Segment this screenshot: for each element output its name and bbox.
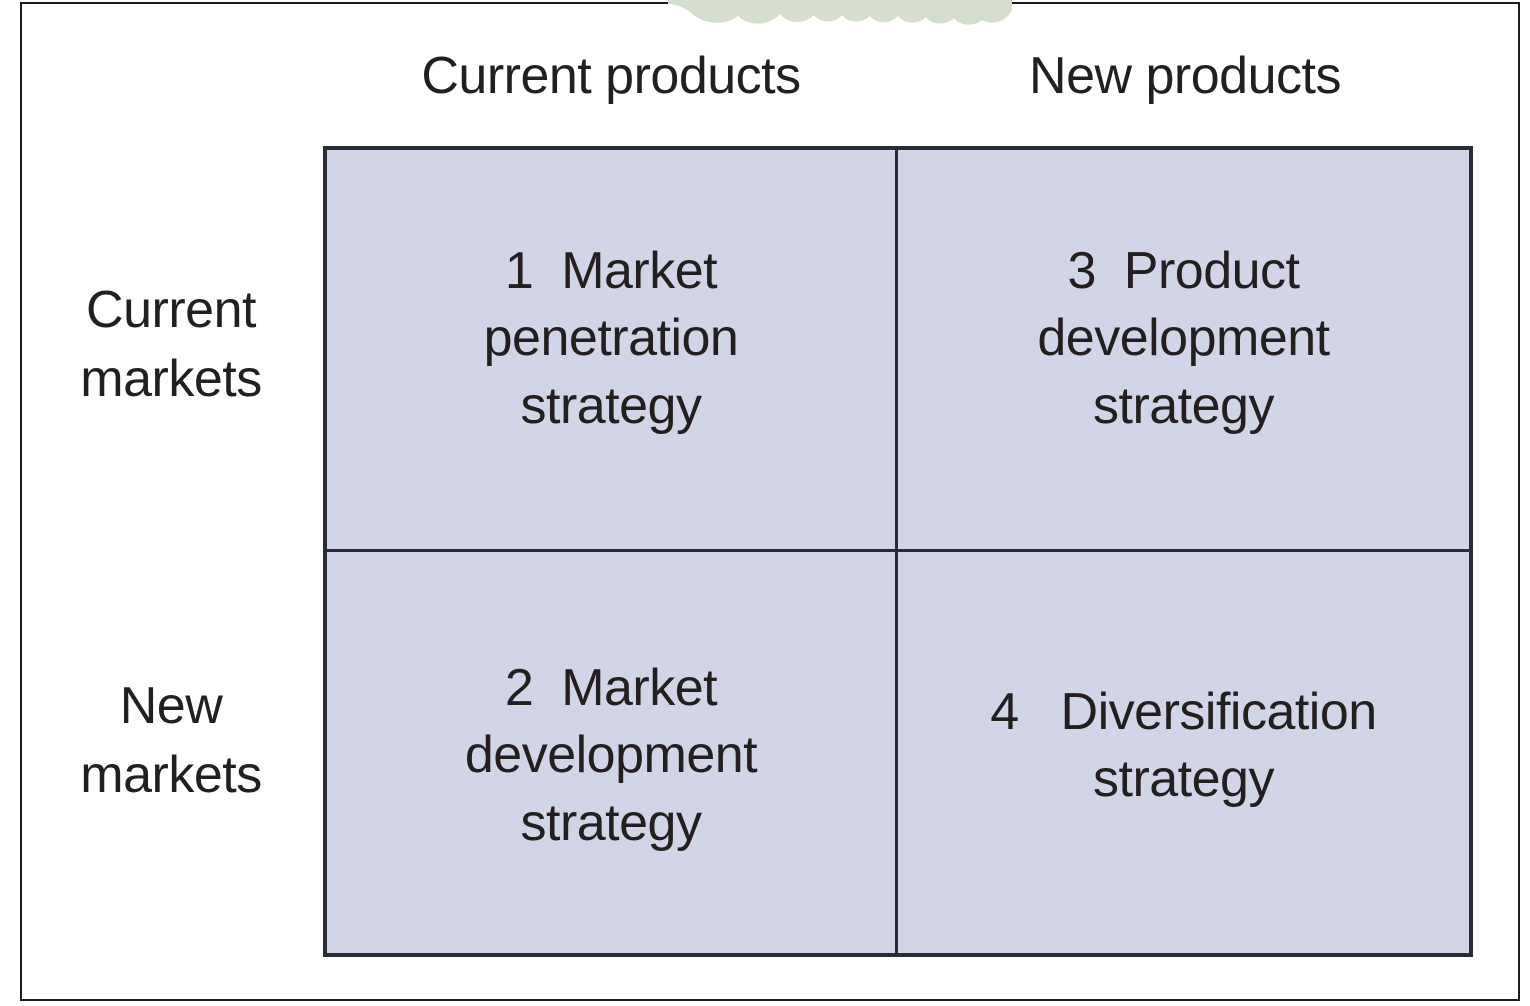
cell-1-line-2: penetration	[349, 305, 873, 373]
cell-2-line-2: development	[349, 722, 873, 790]
cell-3-line-3: strategy	[920, 373, 1447, 441]
ansoff-matrix-figure: Current products New products Current ma…	[0, 0, 1530, 1006]
cell-3-line-2: development	[920, 305, 1447, 373]
matrix-cell-product-development-text: 3 Product development strategy	[920, 238, 1447, 441]
row-header-current-markets: Current markets	[28, 276, 314, 414]
row-header-new-markets: New markets	[28, 672, 314, 810]
matrix-cell-market-development-text: 2 Market development strategy	[349, 655, 873, 858]
matrix-cell-diversification-text: 4 Diversification strategy	[920, 679, 1447, 814]
row-header-current-markets-line1: Current	[28, 276, 314, 345]
cell-2-line-1: 2 Market	[349, 655, 873, 723]
matrix-cell-product-development: 3 Product development strategy	[898, 150, 1469, 552]
column-header-current-products: Current products	[324, 44, 898, 108]
matrix-cell-diversification: 4 Diversification strategy	[898, 552, 1469, 954]
cell-4-line-2: strategy	[920, 746, 1447, 814]
cell-2-line-3: strategy	[349, 790, 873, 858]
row-header-new-markets-line2: markets	[28, 741, 314, 810]
cell-1-line-1: 1 Market	[349, 238, 873, 306]
matrix-cell-market-development: 2 Market development strategy	[327, 552, 898, 954]
cell-4-line-1: 4 Diversification	[920, 679, 1447, 747]
matrix-cell-market-penetration: 1 Market penetration strategy	[327, 150, 898, 552]
row-header-current-markets-line2: markets	[28, 345, 314, 414]
matrix-grid: 1 Market penetration strategy 3 Product …	[323, 146, 1473, 957]
row-header-new-markets-line1: New	[28, 672, 314, 741]
matrix-cell-market-penetration-text: 1 Market penetration strategy	[349, 238, 873, 441]
cell-1-line-3: strategy	[349, 373, 873, 441]
cell-3-line-1: 3 Product	[920, 238, 1447, 306]
column-header-new-products: New products	[898, 44, 1472, 108]
